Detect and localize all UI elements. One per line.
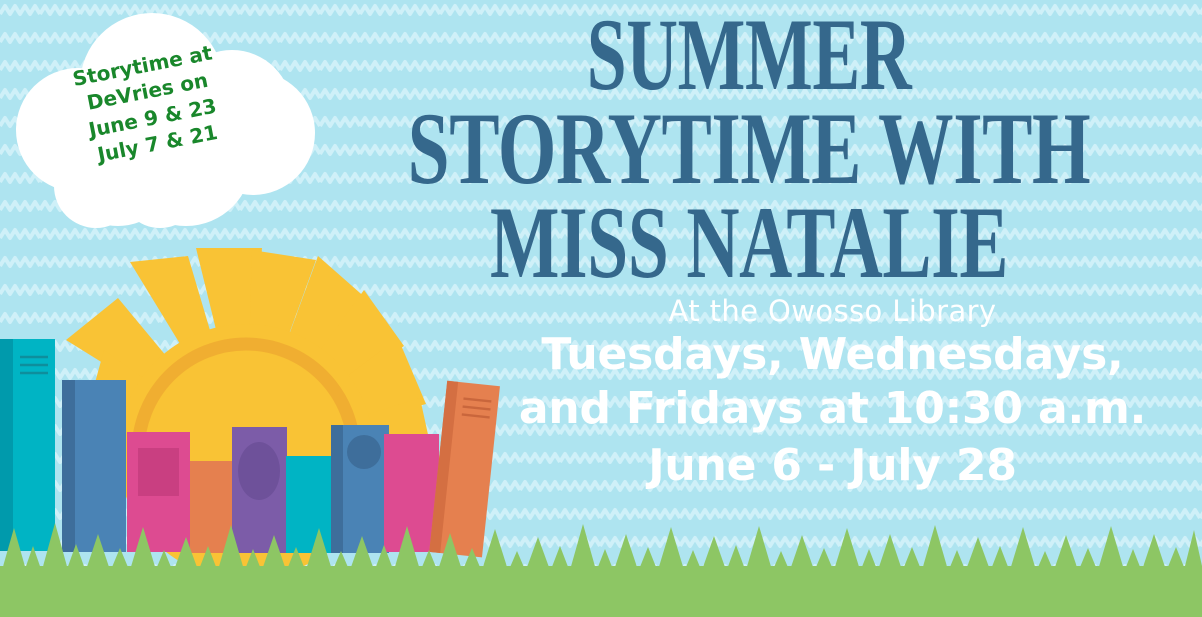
headline: SUMMER STORYTIME WITH MISS NATALIE bbox=[300, 4, 1198, 282]
event-details: At the Owosso Library Tuesdays, Wednesda… bbox=[470, 296, 1195, 493]
headline-line-2: STORYTIME WITH bbox=[381, 98, 1117, 199]
schedule-line-2: and Fridays at 10:30 a.m. bbox=[470, 382, 1195, 436]
schedule-line-1: Tuesdays, Wednesdays, bbox=[470, 328, 1195, 382]
poster-canvas: Storytime at DeVries on June 9 & 23 July… bbox=[0, 0, 1202, 617]
venue-line: At the Owosso Library bbox=[470, 296, 1195, 328]
headline-line-1: SUMMER bbox=[399, 4, 1099, 105]
headline-line-3: MISS NATALIE bbox=[390, 192, 1108, 293]
date-range: June 6 - July 28 bbox=[470, 439, 1195, 493]
